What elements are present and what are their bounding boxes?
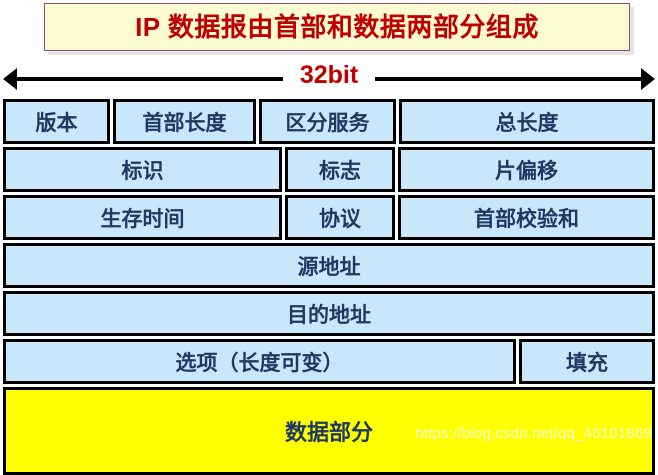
- ip-datagram-table: 版本 首部长度 区分服务 总长度 标识 标志 片偏移 生存时间 协议 首部校验和…: [3, 99, 655, 432]
- field-total-length: 总长度: [399, 99, 655, 144]
- table-row-data: 数据部分: [3, 387, 655, 432]
- field-data-section: 数据部分: [3, 387, 655, 475]
- field-version: 版本: [3, 99, 110, 144]
- field-source-address: 源地址: [3, 243, 655, 288]
- field-padding: 填充: [519, 339, 655, 384]
- table-row-4: 源地址: [3, 243, 655, 288]
- field-differentiated-services: 区分服务: [259, 99, 396, 144]
- field-flags: 标志: [285, 147, 395, 192]
- table-row-2: 标识 标志 片偏移: [3, 147, 655, 192]
- table-row-5: 目的地址: [3, 291, 655, 336]
- table-row-1: 版本 首部长度 区分服务 总长度: [3, 99, 655, 144]
- field-destination-address: 目的地址: [3, 291, 655, 336]
- page-title: IP 数据报由首部和数据两部分组成: [135, 14, 539, 40]
- field-identification: 标识: [3, 147, 282, 192]
- table-row-6: 选项（长度可变） 填充: [3, 339, 655, 384]
- bit-width-label: 32bit: [295, 61, 363, 89]
- field-header-checksum: 首部校验和: [398, 195, 655, 240]
- field-options: 选项（长度可变）: [3, 339, 516, 384]
- bit-width-label-wrap: 32bit: [3, 59, 655, 92]
- field-header-length: 首部长度: [113, 99, 256, 144]
- table-row-3: 生存时间 协议 首部校验和: [3, 195, 655, 240]
- field-protocol: 协议: [285, 195, 395, 240]
- field-time-to-live: 生存时间: [3, 195, 282, 240]
- diagram-title-banner: IP 数据报由首部和数据两部分组成: [44, 3, 630, 51]
- field-fragment-offset: 片偏移: [398, 147, 655, 192]
- bit-width-indicator: 32bit: [3, 62, 655, 94]
